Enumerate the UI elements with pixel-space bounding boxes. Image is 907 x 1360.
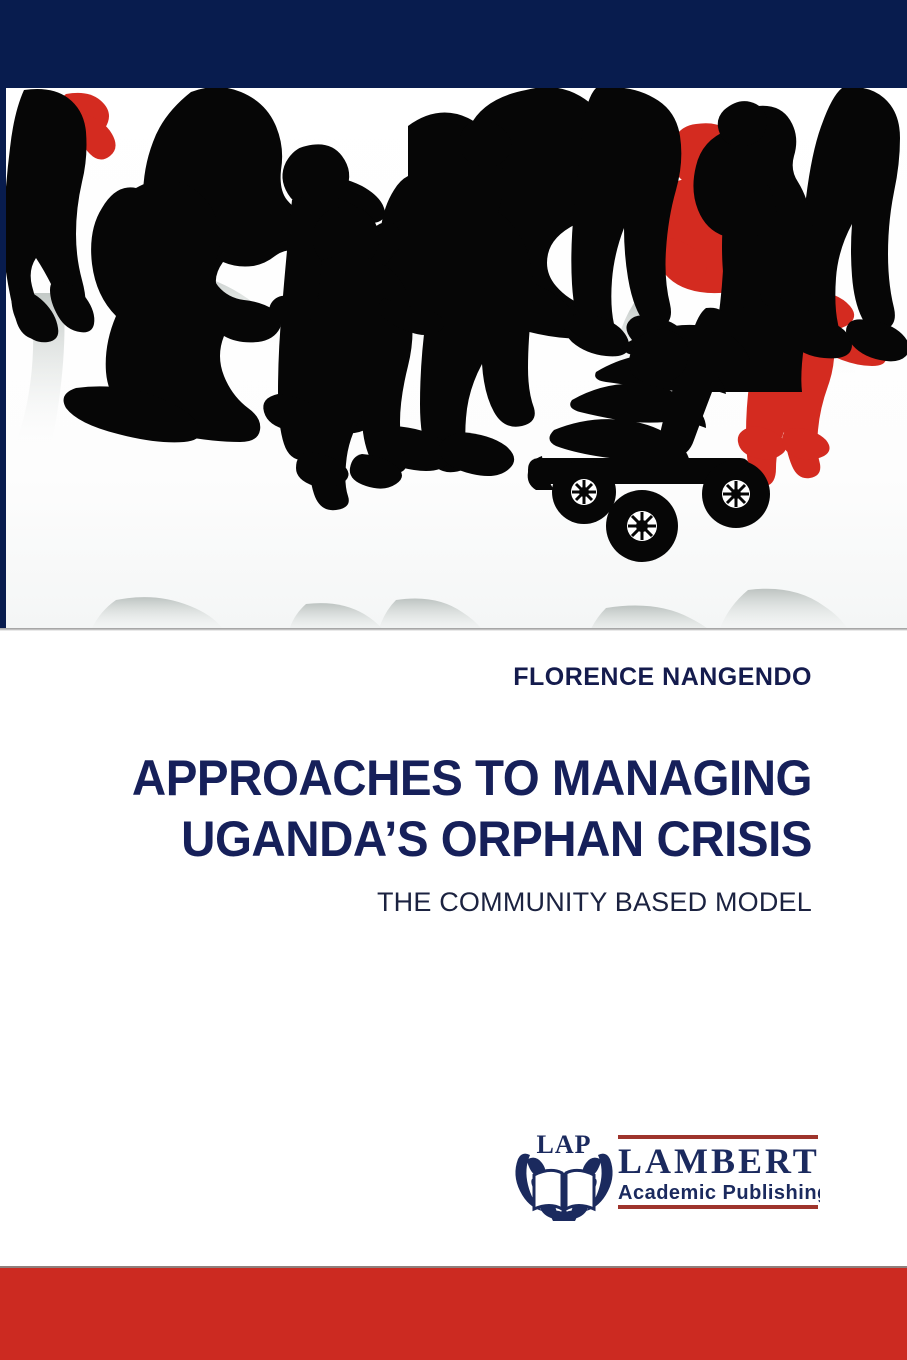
cover-text-block: FLORENCE NANGENDO APPROACHES TO MANAGING… bbox=[60, 640, 812, 920]
lap-emblem-text: LAP bbox=[537, 1130, 592, 1159]
publisher-name: LAMBERT bbox=[618, 1141, 820, 1181]
book-cover: FLORENCE NANGENDO APPROACHES TO MANAGING… bbox=[0, 0, 907, 1360]
open-book-icon bbox=[534, 1170, 594, 1211]
logo-rule-bottom bbox=[618, 1205, 818, 1209]
top-navy-band bbox=[0, 0, 907, 88]
artwork-drop-shadow bbox=[0, 628, 907, 631]
book-subtitle: THE COMMUNITY BASED MODEL bbox=[60, 870, 812, 920]
silhouette-illustration bbox=[6, 88, 907, 628]
book-title-line-1: APPROACHES TO MANAGING bbox=[98, 748, 812, 809]
bottom-red-band bbox=[0, 1266, 907, 1360]
book-title-line-2: UGANDA’S ORPHAN CRISIS bbox=[98, 809, 812, 870]
book-title: APPROACHES TO MANAGING UGANDA’S ORPHAN C… bbox=[98, 692, 812, 870]
cover-artwork bbox=[0, 88, 907, 628]
publisher-tagline: Academic Publishing bbox=[618, 1182, 820, 1204]
lap-lambert-logo: LAP LAMBERT Academic Publishing bbox=[508, 1125, 820, 1221]
publisher-logo: LAP LAMBERT Academic Publishing bbox=[508, 1125, 820, 1221]
author-name: FLORENCE NANGENDO bbox=[60, 640, 812, 692]
logo-rule-top bbox=[618, 1135, 818, 1139]
